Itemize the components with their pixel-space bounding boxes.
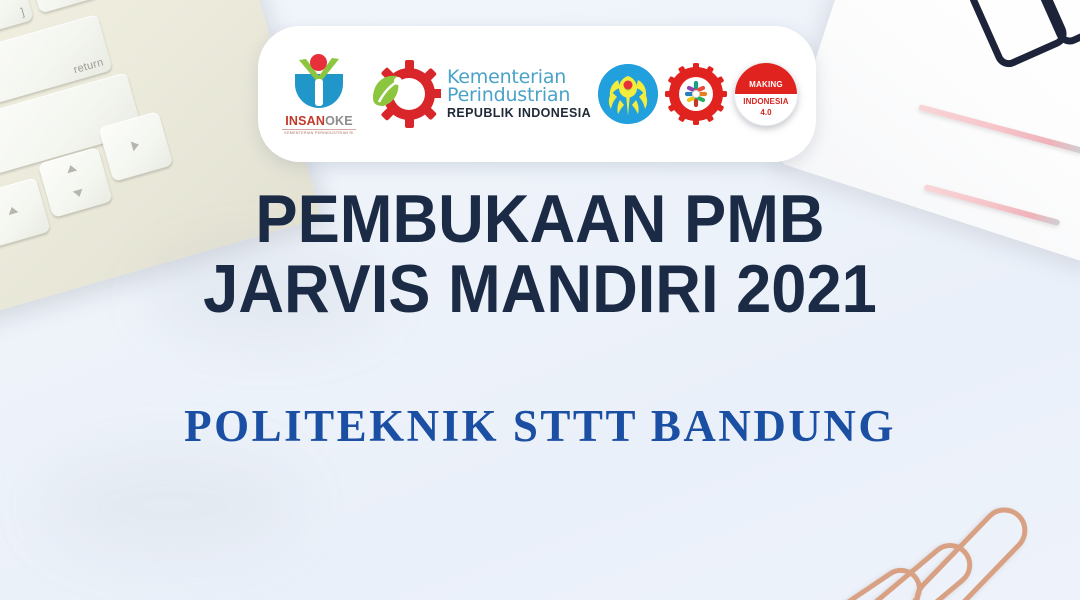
- insanoke-stem-shape: [315, 79, 323, 106]
- insanoke-logo: INSANOKE KEMENTERIAN PERINDUSTRIAN RI: [276, 52, 362, 136]
- kemenperin-text-block: Kementerian Perindustrian REPUBLIK INDON…: [447, 68, 591, 120]
- keyboard-key-bracket: ]: [0, 0, 34, 35]
- red-gear-institution-logo: [665, 63, 727, 125]
- keyboard-key-shift: shift: [0, 72, 143, 178]
- bpsdmi-blue-circle-logo: [598, 64, 658, 124]
- logo-bar: INSANOKE KEMENTERIAN PERINDUSTRIAN RI: [258, 26, 816, 162]
- kemenperin-line-3: REPUBLIK INDONESIA: [447, 107, 591, 120]
- kemenperin-line-2: Perindustrian: [447, 86, 591, 105]
- paperclip-prop-1: [905, 498, 1037, 600]
- insanoke-tagline: KEMENTERIAN PERINDUSTRIAN RI: [275, 132, 363, 136]
- headline-line-1: PEMBUKAAN PMB: [38, 184, 1042, 254]
- insanoke-mark-icon: [284, 52, 354, 114]
- poster-canvas: } ] \ return shift: [0, 0, 1080, 600]
- keyboard-key-return-label: return: [72, 56, 105, 76]
- insanoke-wordmark-part1: INSAN: [285, 114, 325, 128]
- eyeglasses-lens-prop: [1028, 0, 1080, 49]
- making-indonesia-line-1: MAKING: [735, 80, 797, 89]
- making-indonesia-line-3: 4.0: [735, 108, 797, 117]
- red-gear-icon: [665, 63, 727, 125]
- headline-block: PEMBUKAAN PMB JARVIS MANDIRI 2021: [0, 184, 1080, 324]
- insanoke-wordmark-part2: OKE: [325, 114, 353, 128]
- arrow-right-icon: [131, 140, 140, 152]
- arrow-up-small-icon: [66, 164, 78, 173]
- kemenperin-gear-icon: [369, 58, 441, 130]
- pencil-prop-1: [918, 104, 1080, 154]
- insanoke-wordmark: INSANOKE: [276, 115, 362, 128]
- keyboard-key-return: return: [0, 14, 113, 112]
- kementerian-perindustrian-logo: Kementerian Perindustrian REPUBLIK INDON…: [369, 58, 591, 130]
- subtitle-text: POLITEKNIK STTT BANDUNG: [0, 400, 1080, 452]
- making-indonesia-40-logo: MAKING INDONESIA 4.0: [734, 62, 798, 126]
- bpsdmi-emblem-icon: [598, 64, 658, 124]
- keyboard-key-shift-label: shift: [111, 118, 135, 136]
- making-indonesia-top-half: [735, 63, 797, 94]
- keyboard-key-backslash: \: [27, 0, 100, 14]
- keyboard-key-arrow-right: [98, 111, 173, 182]
- headline-line-2: JARVIS MANDIRI 2021: [38, 254, 1042, 324]
- soft-shadow-2: [40, 450, 300, 560]
- eyeglasses-prop: [965, 0, 1071, 72]
- making-indonesia-line-2: INDONESIA: [735, 97, 797, 106]
- paperclip-prop-2: [855, 534, 981, 600]
- paperclip-prop-3: [812, 560, 930, 600]
- insanoke-divider: [282, 129, 356, 130]
